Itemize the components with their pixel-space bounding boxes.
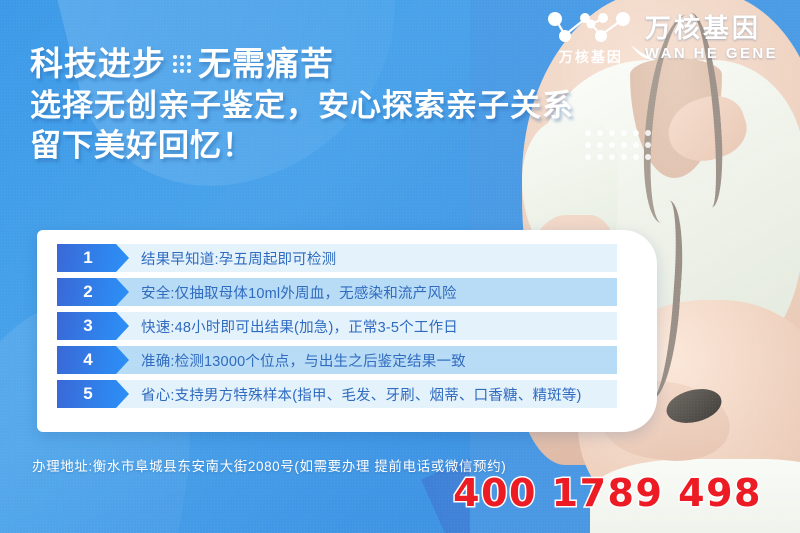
list-item: 3 快速:48小时即可出结果(加急)，正常3-5个工作日: [37, 312, 657, 340]
feature-list: 1 结果早知道:孕五周起即可检测 2 安全:仅抽取母体10ml外周血，无感染和流…: [37, 244, 657, 408]
feature-text: 结果早知道:孕五周起即可检测: [141, 248, 336, 269]
molecule-dna-icon: [543, 8, 639, 46]
feature-number-badge: 5: [57, 380, 129, 408]
feature-text: 准确:检测13000个位点，与出生之后鉴定结果一致: [141, 350, 466, 371]
headline-block: 科技进步 无需痛苦 选择无创亲子鉴定，安心探索亲子关系 留下美好回忆！: [30, 42, 574, 167]
feature-number-badge: 3: [57, 312, 129, 340]
feature-text: 省心:支持男方特殊样本(指甲、毛发、牙刷、烟蒂、口香糖、精斑等): [141, 384, 582, 405]
list-item: 2 安全:仅抽取母体10ml外周血，无感染和流产风险: [37, 278, 657, 306]
headline-line-1: 科技进步 无需痛苦: [30, 42, 574, 86]
logo-mark-caption: 万核基因: [543, 47, 639, 67]
feature-number-badge: 2: [57, 278, 129, 306]
brand-logo[interactable]: 万核基因 万核基因 WAN HE GENE: [543, 8, 778, 67]
headline-line-1-part-b: 无需痛苦: [198, 42, 334, 86]
dot-grid-decoration-icon: [585, 130, 657, 166]
headline-line-3: 留下美好回忆！: [30, 126, 574, 167]
feature-text: 安全:仅抽取母体10ml外周血，无感染和流产风险: [141, 282, 457, 303]
promo-poster: 万核基因 万核基因 WAN HE GENE 科技进步 无需痛苦 选择无创亲子鉴定…: [0, 0, 800, 533]
list-item: 4 准确:检测13000个位点，与出生之后鉴定结果一致: [37, 346, 657, 374]
list-item: 5 省心:支持男方特殊样本(指甲、毛发、牙刷、烟蒂、口香糖、精斑等): [37, 380, 657, 408]
logo-name-en: WAN HE GENE: [645, 46, 778, 61]
swoosh-icon: [629, 42, 659, 64]
feature-card: 1 结果早知道:孕五周起即可检测 2 安全:仅抽取母体10ml外周血，无感染和流…: [37, 230, 657, 432]
list-item: 1 结果早知道:孕五周起即可检测: [37, 244, 657, 272]
headline-line-1-part-a: 科技进步: [30, 42, 166, 86]
logo-name-cn: 万核基因: [645, 15, 778, 41]
feature-number-badge: 4: [57, 346, 129, 374]
headline-line-2: 选择无创亲子鉴定，安心探索亲子关系: [30, 86, 574, 127]
dot-grid-icon: [173, 55, 191, 73]
logo-mark: 万核基因: [543, 8, 639, 67]
feature-number-badge: 1: [57, 244, 129, 272]
logo-wordmark: 万核基因 WAN HE GENE: [645, 15, 778, 61]
feature-text: 快速:48小时即可出结果(加急)，正常3-5个工作日: [141, 316, 458, 337]
office-address: 办理地址:衡水市阜城县东安南大街2080号(如需要办理 提前电话或微信预约): [32, 455, 506, 475]
contact-phone-number[interactable]: 400 1789 498: [453, 471, 762, 515]
